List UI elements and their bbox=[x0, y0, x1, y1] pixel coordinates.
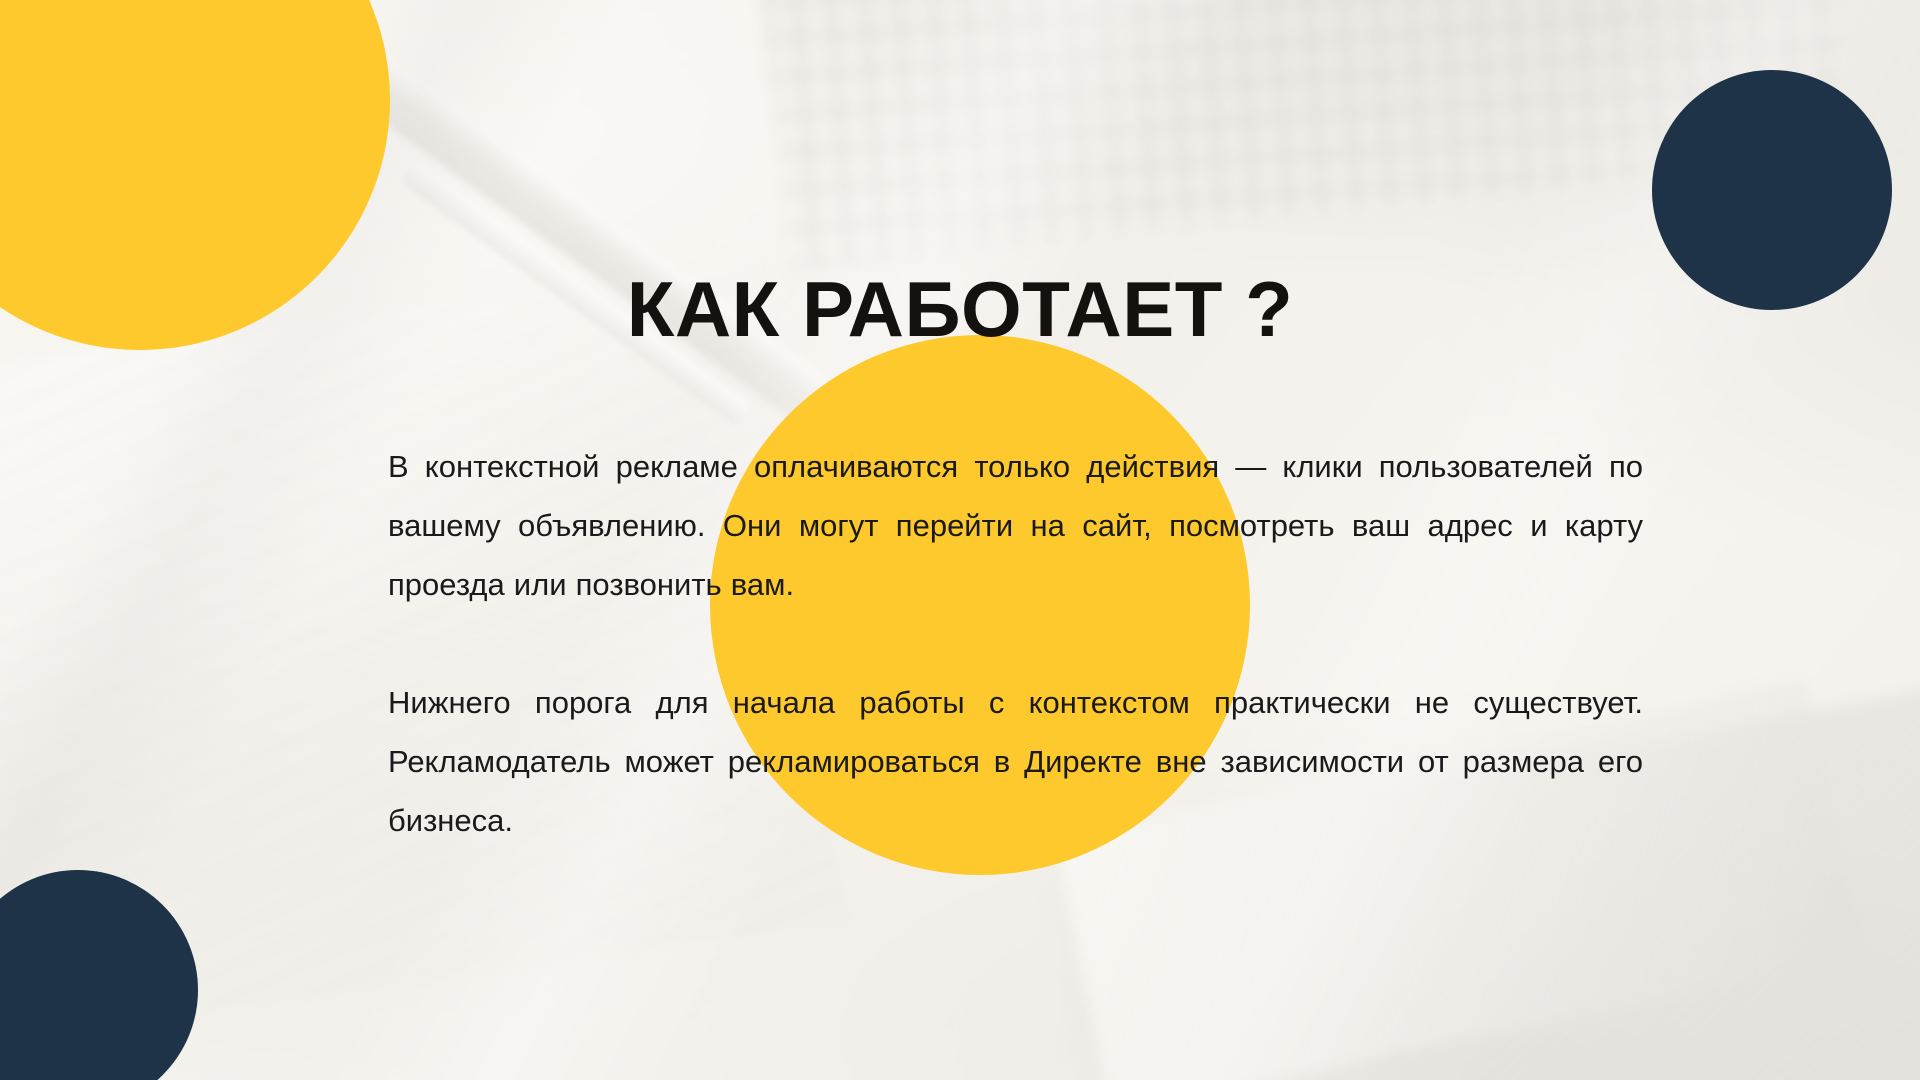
slide-body: В контекстной рекламе оплачиваются тольк… bbox=[388, 437, 1643, 850]
body-paragraph-2: Нижнего порога для начала работы с конте… bbox=[388, 673, 1643, 850]
presentation-slide: КАК РАБОТАЕТ ? В контекстной рекламе опл… bbox=[0, 0, 1920, 1080]
body-paragraph-1: В контекстной рекламе оплачиваются тольк… bbox=[388, 437, 1643, 614]
slide-title: КАК РАБОТАЕТ ? bbox=[390, 270, 1530, 348]
slide-content: КАК РАБОТАЕТ ? В контекстной рекламе опл… bbox=[0, 0, 1920, 1080]
